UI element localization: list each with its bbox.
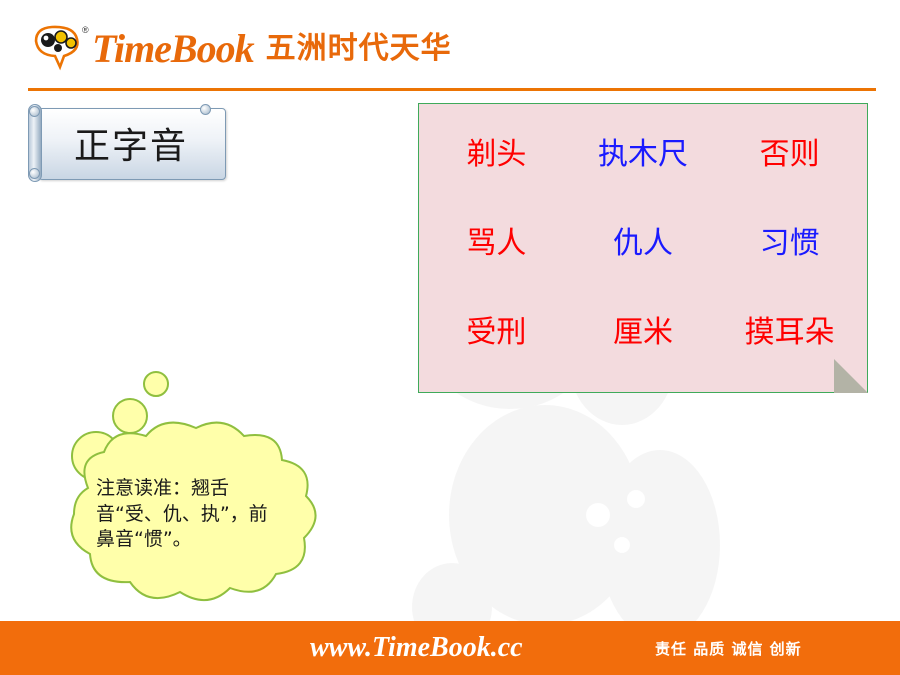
word-item: 执木尺	[598, 140, 688, 170]
word-item: 骂人	[466, 229, 526, 259]
footer-slogan: 责任 品质 诚信 创新	[655, 638, 802, 659]
brand-header: ® TimeBook 五洲时代天华	[30, 18, 452, 80]
folded-corner-icon	[834, 359, 868, 393]
word-item: 受刑	[466, 318, 526, 348]
word-item: 摸耳朵	[745, 318, 835, 348]
word-grid: 剃头 执木尺 否则 骂人 仇人 习惯 受刑 厘米 摸耳朵	[419, 104, 867, 392]
word-item: 剃头	[466, 140, 526, 170]
note-callout: 注意读准：翘舌音“受、仇、执”，前鼻音“惯”。	[18, 370, 378, 630]
footer-bar: www.TimeBook.cc 责任 品质 诚信 创新	[0, 621, 900, 675]
page-title: 正字音	[38, 108, 224, 178]
word-list-panel: 剃头 执木尺 否则 骂人 仇人 习惯 受刑 厘米 摸耳朵	[418, 103, 868, 393]
brand-name-cn: 五洲时代天华	[266, 34, 452, 64]
slide-title-plaque: 正字音	[28, 104, 224, 182]
word-item: 否则	[760, 140, 820, 170]
footer-url[interactable]: www.TimeBook.cc	[310, 632, 523, 664]
header-divider	[28, 88, 876, 91]
dog-logo-icon: ®	[30, 23, 86, 75]
registered-mark: ®	[82, 25, 89, 35]
word-item: 厘米	[613, 318, 673, 348]
word-item: 习惯	[760, 229, 820, 259]
brand-name: TimeBook	[92, 29, 254, 69]
slide-canvas: ® TimeBook 五洲时代天华 正字音 剃头 执木尺 否则 骂人 仇人 习惯…	[0, 0, 900, 675]
word-item: 仇人	[613, 229, 673, 259]
note-text: 注意读准：翘舌音“受、仇、执”，前鼻音“惯”。	[96, 476, 278, 553]
